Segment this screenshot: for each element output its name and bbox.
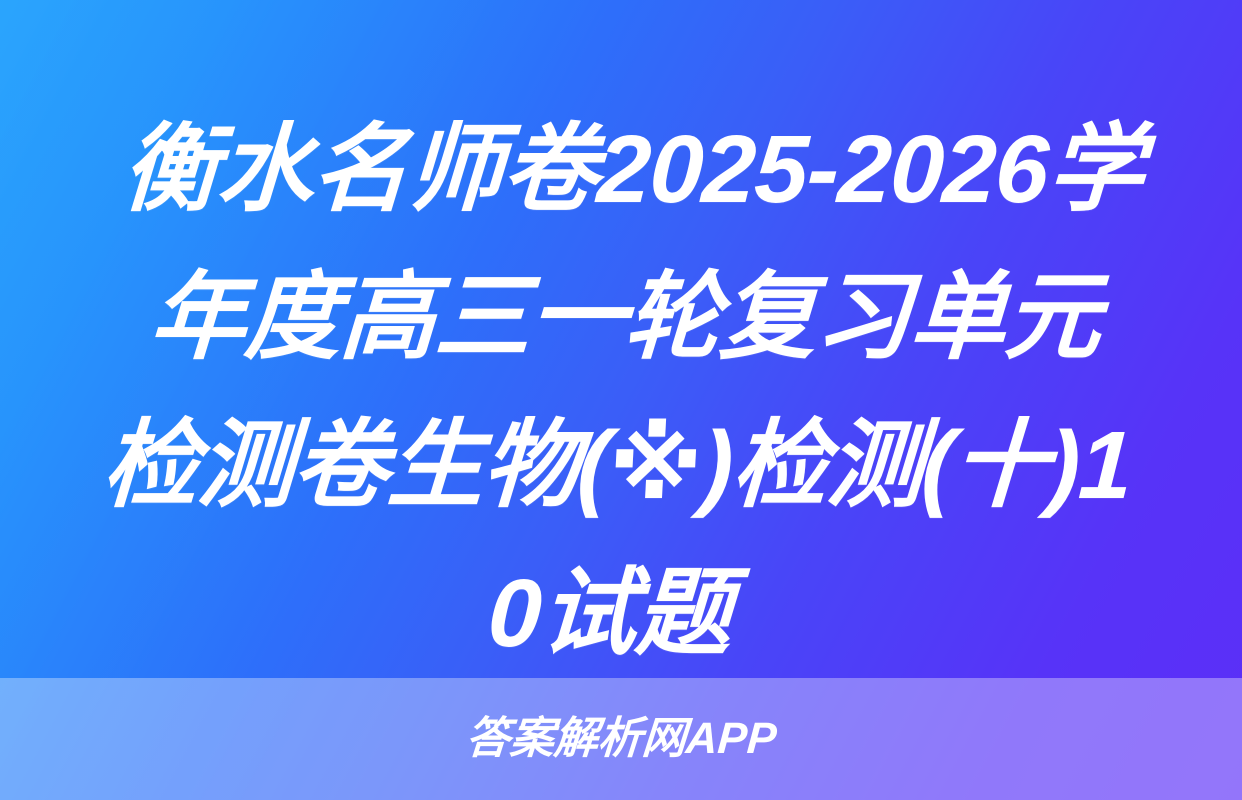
page-title: 衡水名师卷2025-2026学年度高三一轮复习单元检测卷生物(※)检测(十)10… xyxy=(84,96,1157,688)
footer-brand-band: 答案解析网APP xyxy=(0,678,1242,800)
brand-label: 答案解析网APP xyxy=(464,717,778,761)
poster-canvas: 衡水名师卷2025-2026学年度高三一轮复习单元检测卷生物(※)检测(十)10… xyxy=(0,0,1242,800)
page-title-text: 衡水名师卷2025-2026学年度高三一轮复习单元检测卷生物(※)检测(十)10… xyxy=(100,116,1145,667)
